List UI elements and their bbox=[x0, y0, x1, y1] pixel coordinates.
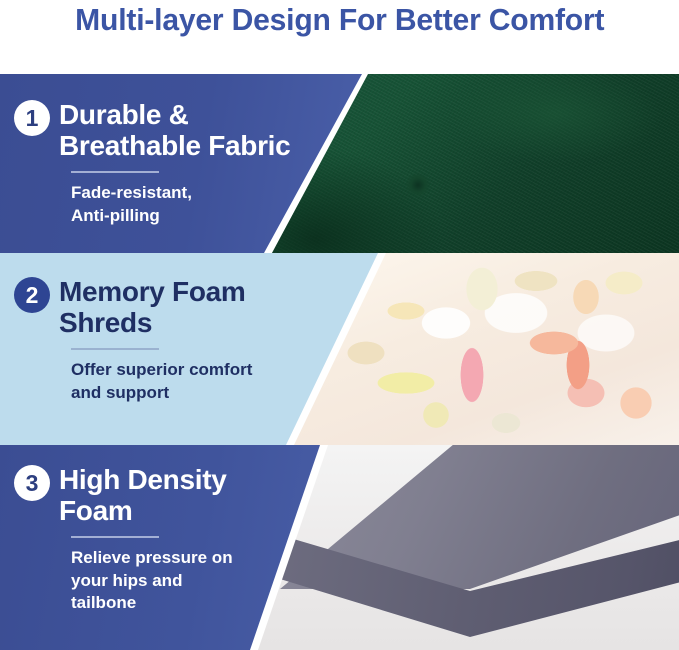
step-badge-1: 1 bbox=[14, 100, 50, 136]
panel-2-subtitle: Offer superior comfort and support bbox=[71, 359, 252, 405]
panel-2-copy: 2 Memory Foam Shreds Offer superior comf… bbox=[0, 277, 252, 404]
panel-3-head-row: 3 High Density Foam bbox=[14, 465, 233, 527]
panel-1-divider bbox=[71, 171, 159, 173]
panel-3-copy: 3 High Density Foam Relieve pressure on … bbox=[0, 465, 233, 615]
feature-panel-3: 3 High Density Foam Relieve pressure on … bbox=[0, 445, 679, 650]
feature-panel-2: 2 Memory Foam Shreds Offer superior comf… bbox=[0, 253, 679, 445]
panel-3-subtitle: Relieve pressure on your hips and tailbo… bbox=[71, 547, 233, 616]
panel-2-headline: Memory Foam Shreds bbox=[59, 277, 246, 339]
panel-1-headline: Durable & Breathable Fabric bbox=[59, 100, 290, 162]
title-bar: Multi-layer Design For Better Comfort bbox=[0, 0, 679, 74]
feature-panel-1: 1 Durable & Breathable Fabric Fade-resis… bbox=[0, 74, 679, 253]
page-title: Multi-layer Design For Better Comfort bbox=[75, 0, 604, 38]
panel-2-divider bbox=[71, 348, 159, 350]
panel-2-head-row: 2 Memory Foam Shreds bbox=[14, 277, 252, 339]
step-badge-3: 3 bbox=[14, 465, 50, 501]
panel-1-subtitle: Fade-resistant, Anti-pilling bbox=[71, 182, 290, 228]
panel-1-head-row: 1 Durable & Breathable Fabric bbox=[14, 100, 290, 162]
panel-3-headline: High Density Foam bbox=[59, 465, 227, 527]
step-badge-2: 2 bbox=[14, 277, 50, 313]
panel-3-divider bbox=[71, 536, 159, 538]
panel-1-copy: 1 Durable & Breathable Fabric Fade-resis… bbox=[0, 100, 290, 227]
